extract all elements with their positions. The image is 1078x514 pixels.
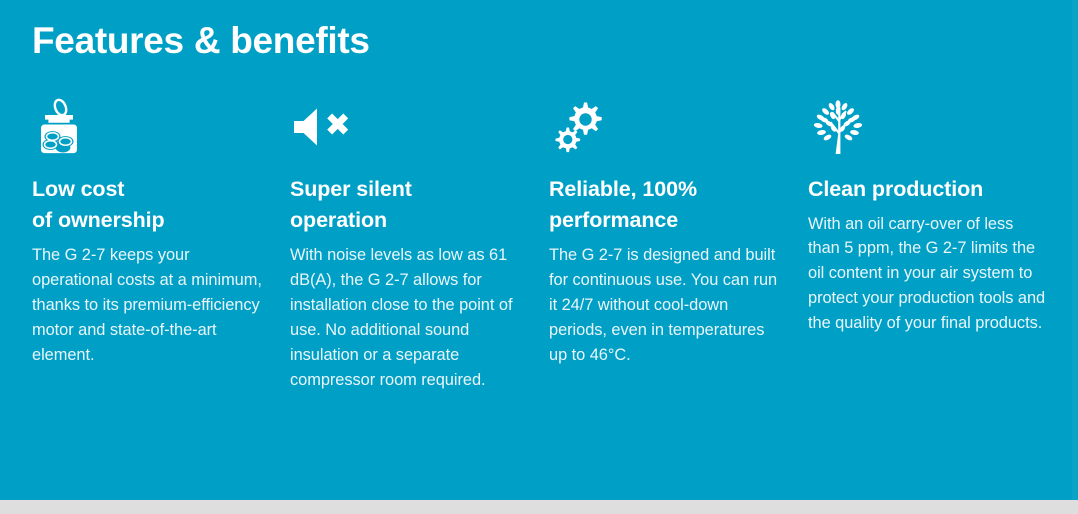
feature-heading: Reliable, 100% performance — [549, 174, 787, 235]
page-title: Features & benefits — [32, 21, 370, 61]
feature-body: The G 2-7 keeps your operational costs a… — [32, 243, 270, 368]
gears-icon — [549, 98, 787, 156]
panel-right-edge — [1072, 0, 1078, 500]
feature-column-reliable: Reliable, 100% performance The G 2-7 is … — [549, 98, 787, 368]
feature-heading: Low cost of ownership — [32, 174, 270, 235]
bottom-strip — [0, 500, 1078, 514]
feature-column-super-silent: Super silent operation With noise levels… — [290, 98, 528, 393]
feature-body: With an oil carry-over of less than 5 pp… — [808, 212, 1046, 337]
feature-column-clean-production: Clean production With an oil carry-over … — [808, 98, 1046, 336]
feature-column-low-cost: Low cost of ownership The G 2-7 keeps yo… — [32, 98, 270, 368]
coin-jar-icon — [32, 98, 270, 156]
feature-heading: Clean production — [808, 174, 1046, 205]
feature-body: With noise levels as low as 61 dB(A), th… — [290, 243, 528, 393]
features-benefits-panel: Features & benefits — [0, 0, 1072, 500]
muted-speaker-icon — [290, 98, 528, 156]
tree-icon — [808, 98, 1046, 156]
feature-body: The G 2-7 is designed and built for cont… — [549, 243, 787, 368]
feature-heading: Super silent operation — [290, 174, 528, 235]
